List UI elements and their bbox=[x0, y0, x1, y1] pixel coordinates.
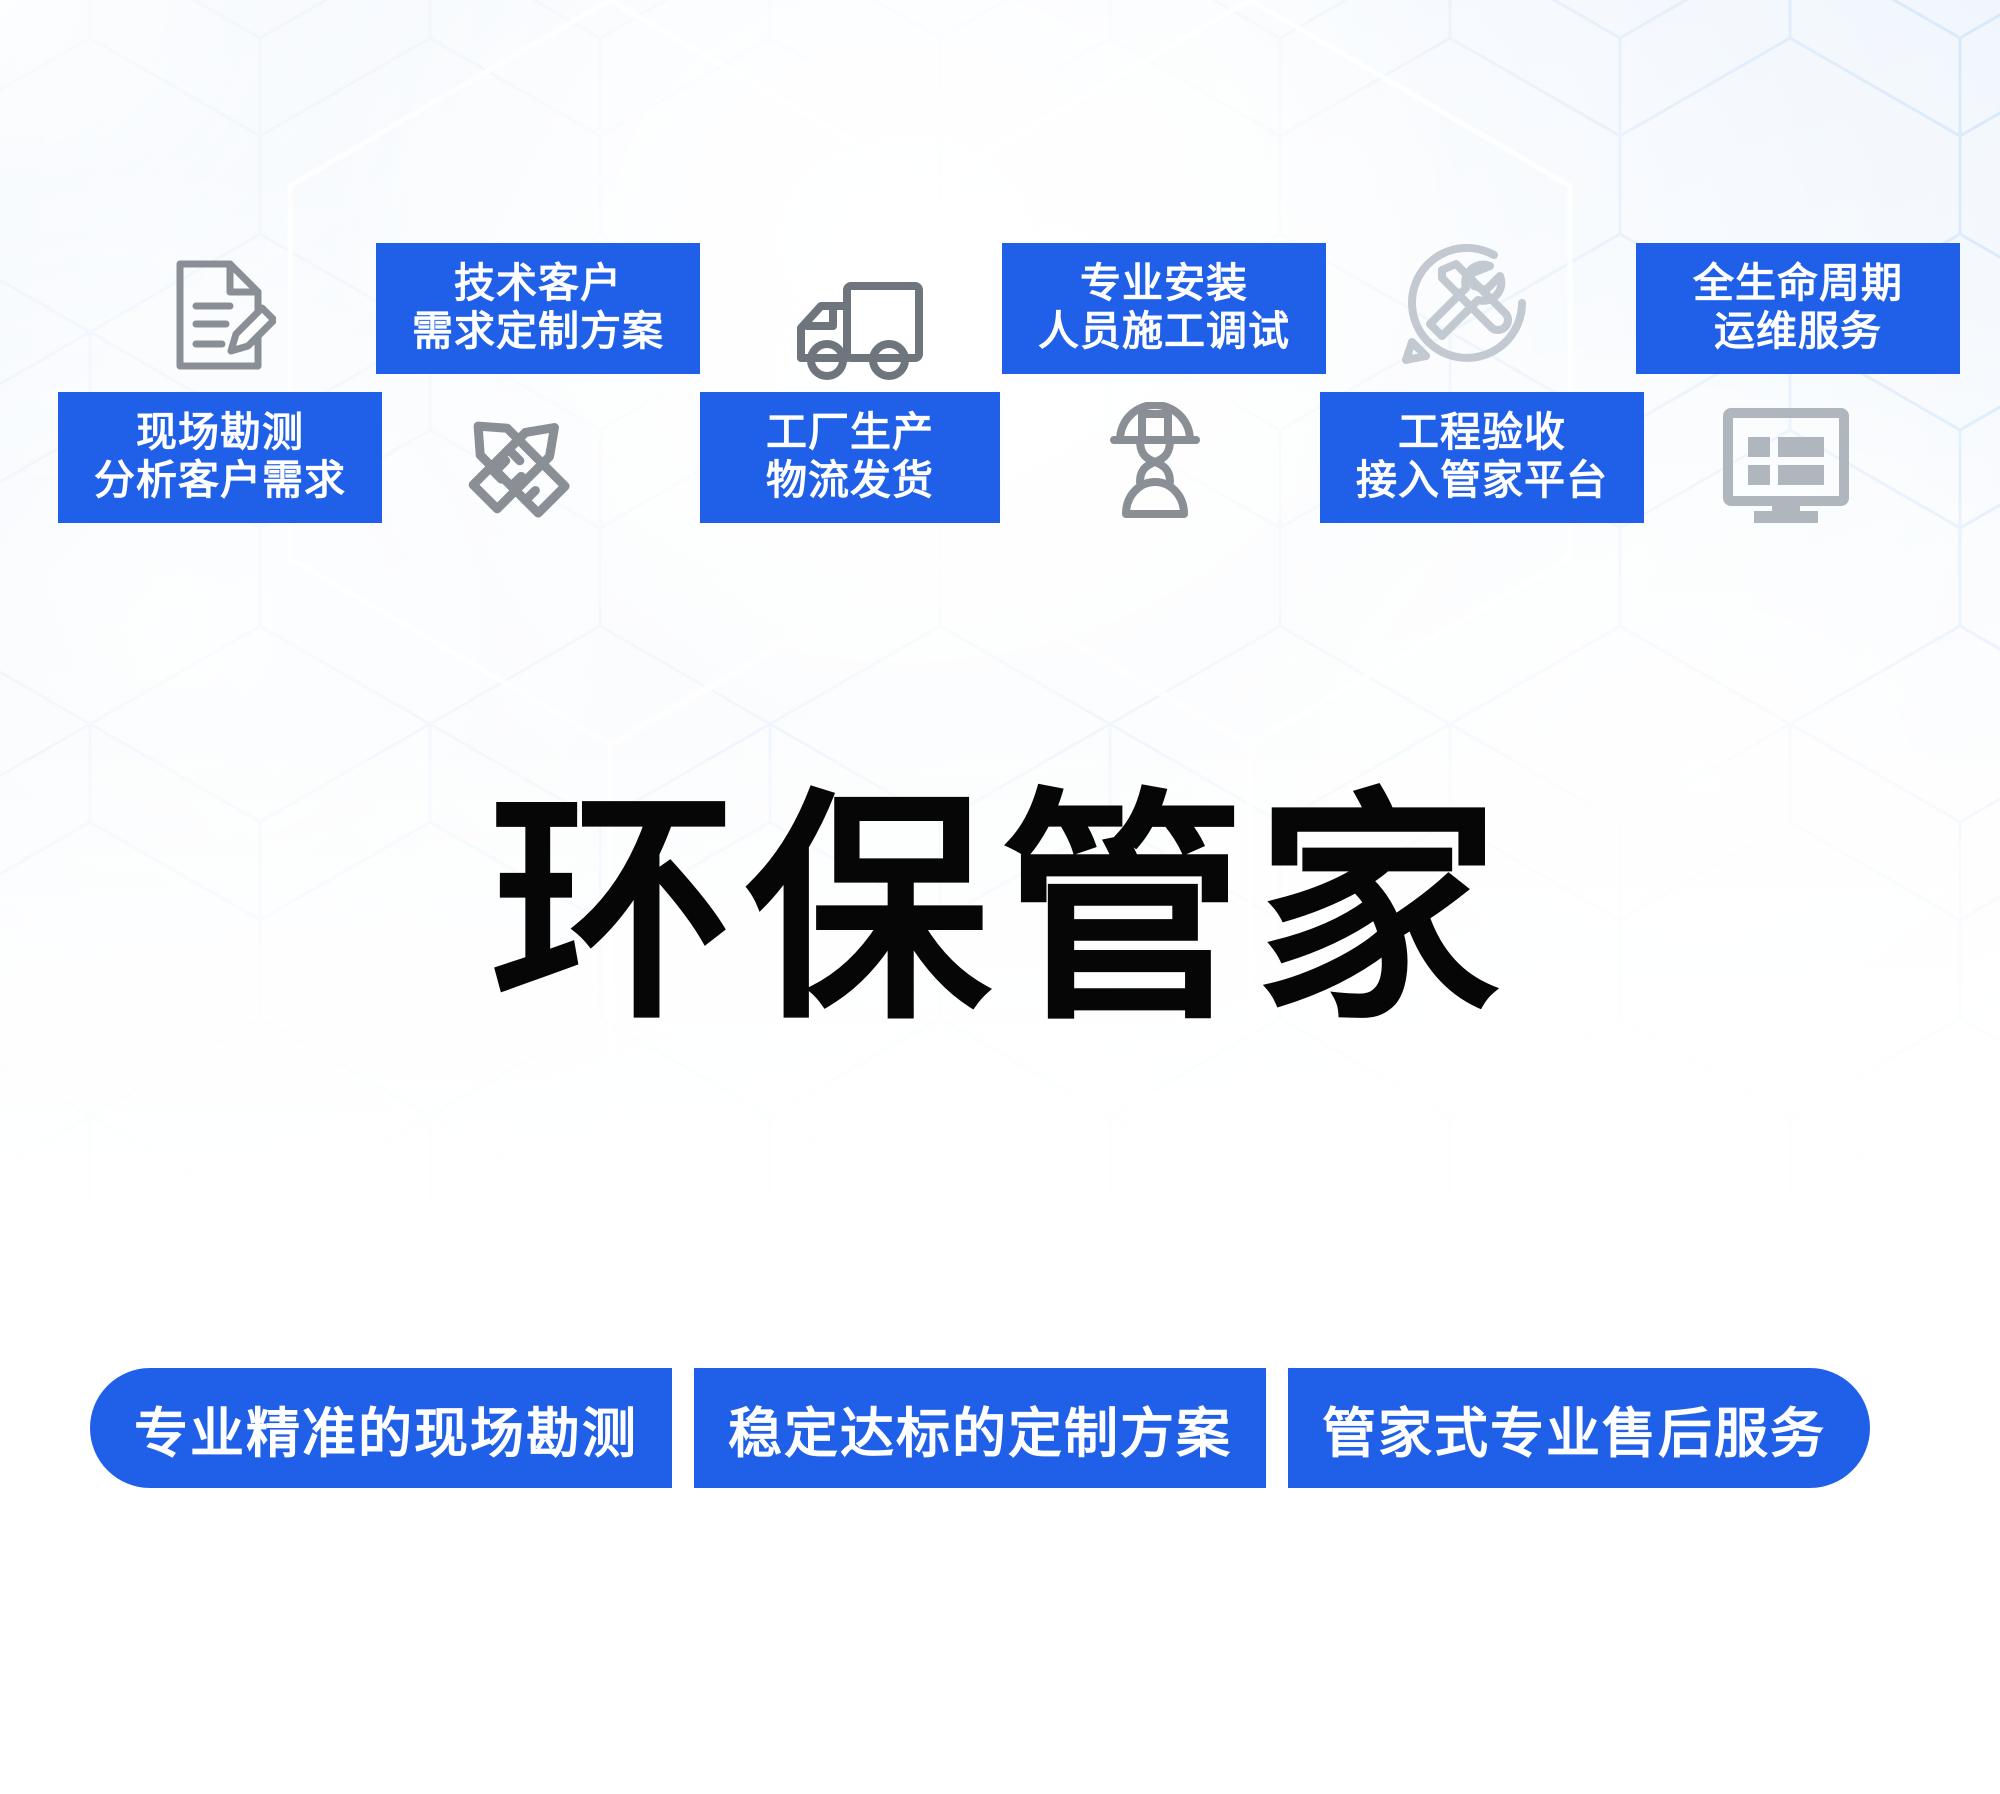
process-step-4-badge: 专业安装 人员施工调试 bbox=[1002, 243, 1326, 374]
process-step-2-line2: 需求定制方案 bbox=[394, 307, 682, 355]
process-step-5-line2: 接入管家平台 bbox=[1338, 456, 1626, 504]
process-step-2-line1: 技术客户 bbox=[394, 259, 682, 307]
process-step-3-line1: 工厂生产 bbox=[718, 408, 982, 456]
process-step-6-line2: 运维服务 bbox=[1654, 307, 1942, 355]
worker-helmet-icon bbox=[1090, 400, 1220, 530]
delivery-truck-icon bbox=[790, 272, 930, 392]
process-step-6-badge: 全生命周期 运维服务 bbox=[1636, 243, 1960, 374]
process-step-4-line2: 人员施工调试 bbox=[1020, 307, 1308, 355]
wrench-screwdriver-icon bbox=[1392, 228, 1542, 378]
process-step-5-badge: 工程验收 接入管家平台 bbox=[1320, 392, 1644, 523]
process-steps-row: 现场勘测 分析客户需求 技术客户 需 bbox=[0, 0, 2000, 560]
feature-pill-solution[interactable]: 稳定达标的定制方案 bbox=[694, 1368, 1266, 1488]
page-title: 环保管家 bbox=[0, 790, 2000, 1035]
promo-banner: 现场勘测 分析客户需求 技术客户 需 bbox=[0, 0, 2000, 1794]
process-step-5-line1: 工程验收 bbox=[1338, 408, 1626, 456]
process-step-3-badge: 工厂生产 物流发货 bbox=[700, 392, 1000, 523]
process-step-1-line2: 分析客户需求 bbox=[76, 456, 364, 504]
feature-pill-service[interactable]: 管家式专业售后服务 bbox=[1288, 1368, 1870, 1488]
process-step-1-line1: 现场勘测 bbox=[76, 408, 364, 456]
process-step-1-badge: 现场勘测 分析客户需求 bbox=[58, 392, 382, 523]
process-step-3-line2: 物流发货 bbox=[718, 456, 982, 504]
process-step-2-badge: 技术客户 需求定制方案 bbox=[376, 243, 700, 374]
pencil-ruler-icon bbox=[452, 400, 582, 530]
feature-pill-survey[interactable]: 专业精准的现场勘测 bbox=[90, 1368, 672, 1488]
feature-pill-row: 专业精准的现场勘测 稳定达标的定制方案 管家式专业售后服务 bbox=[90, 1368, 1870, 1488]
monitor-dashboard-icon bbox=[1716, 402, 1856, 532]
document-pencil-icon bbox=[168, 255, 278, 375]
process-step-6-line1: 全生命周期 bbox=[1654, 259, 1942, 307]
process-step-4-line1: 专业安装 bbox=[1020, 259, 1308, 307]
